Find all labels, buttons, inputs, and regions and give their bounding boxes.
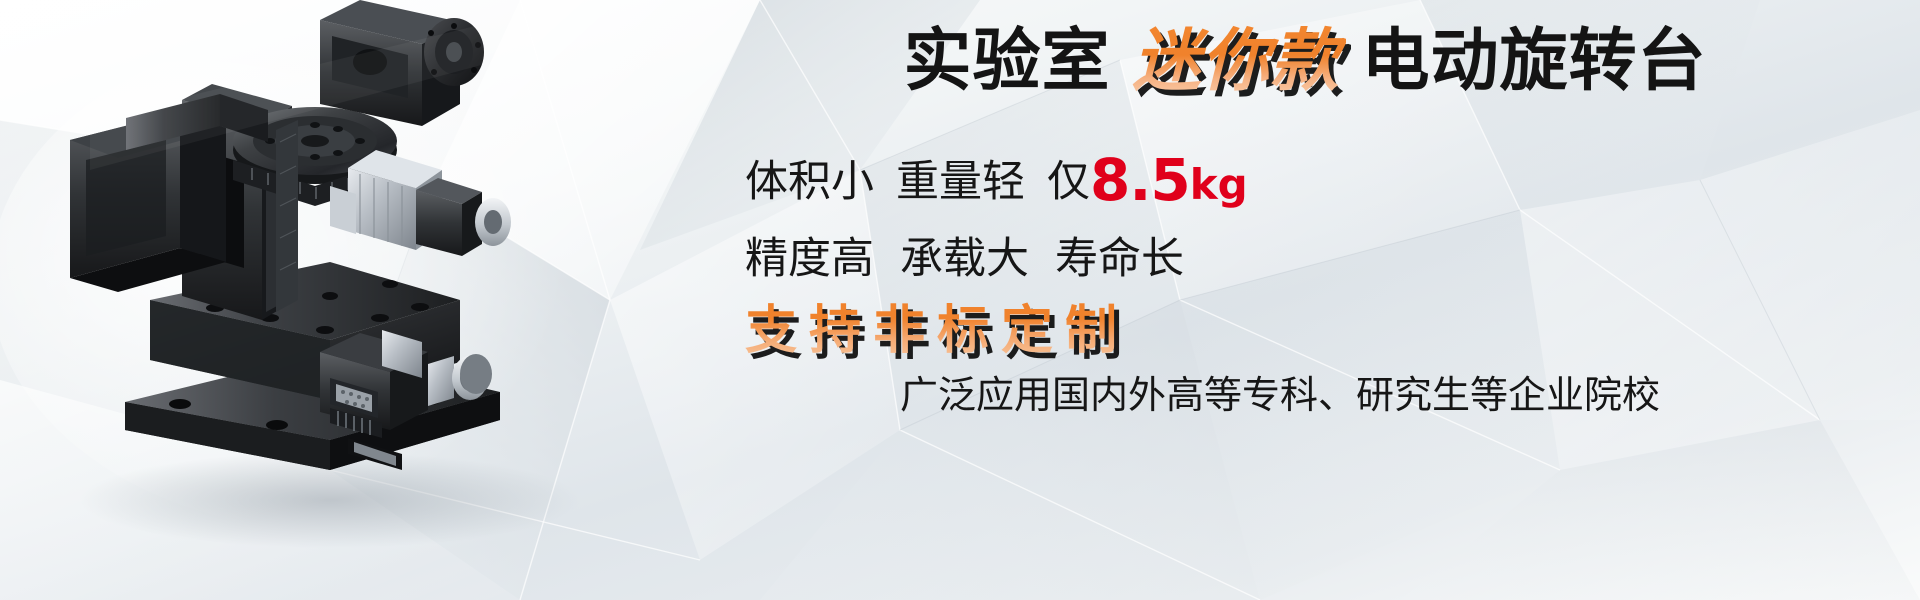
headline-part2: 电动旋转台 bbox=[1362, 22, 1707, 101]
linear-rail bbox=[276, 120, 298, 312]
copy-block: 实验室迷你款电动旋转台 体积小重量轻仅8.5kg 精度高承载大寿命长 支持非标定… bbox=[690, 0, 1920, 600]
feature-light-weight: 重量轻 bbox=[896, 157, 1025, 207]
headline: 实验室迷你款电动旋转台 bbox=[690, 28, 1920, 96]
feature-long-life: 寿命长 bbox=[1055, 234, 1184, 284]
product-image bbox=[30, 0, 680, 600]
headline-highlight: 迷你款 bbox=[1126, 22, 1345, 101]
weight-unit: kg bbox=[1190, 160, 1248, 209]
headline-part1: 实验室 bbox=[903, 22, 1110, 101]
product-banner: 实验室迷你款电动旋转台 体积小重量轻仅8.5kg 精度高承载大寿命长 支持非标定… bbox=[0, 0, 1920, 600]
feature-line-performance: 精度高承载大寿命长 bbox=[745, 224, 1184, 286]
custom-order-tagline: 支持非标定制 bbox=[745, 288, 1129, 363]
feature-high-load: 承载大 bbox=[900, 234, 1029, 284]
feature-small-size: 体积小 bbox=[745, 157, 874, 207]
stepper-motor bbox=[330, 150, 511, 256]
feature-line-weight: 体积小重量轻仅8.5kg bbox=[745, 146, 1248, 214]
application-note: 广泛应用国内外高等专科、研究生等企业院校 bbox=[690, 364, 1870, 419]
weight-value: 8.5 bbox=[1090, 146, 1190, 214]
weight-prefix: 仅 bbox=[1047, 157, 1090, 207]
feature-high-precision: 精度高 bbox=[745, 234, 874, 284]
